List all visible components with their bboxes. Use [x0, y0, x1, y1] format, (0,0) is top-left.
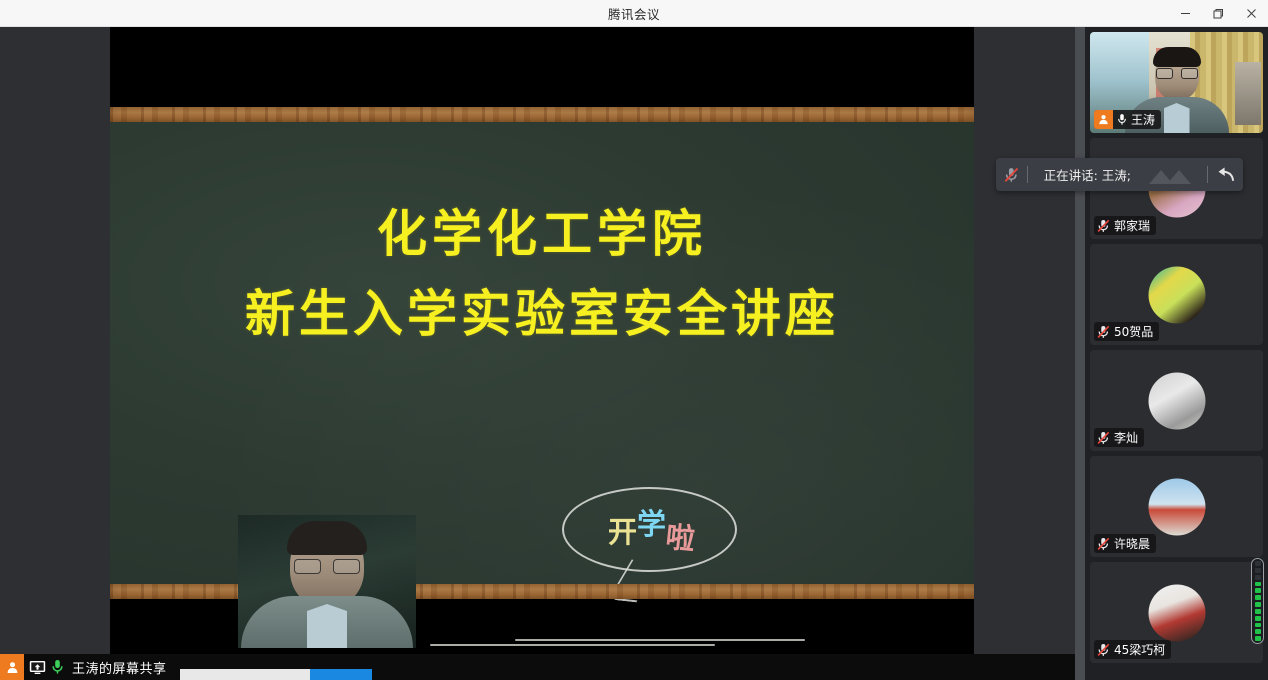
toast-divider	[1027, 166, 1028, 183]
participant-hair	[1153, 47, 1201, 67]
participant-nameplate: 45梁巧柯	[1094, 640, 1171, 659]
presenter-hair	[287, 521, 367, 555]
participant-tile[interactable]: 李灿	[1090, 350, 1263, 451]
participant-name: 许晓晨	[1114, 535, 1150, 552]
speech-bubble: 开学啦	[562, 487, 737, 572]
screen-share-icon	[29, 660, 46, 675]
presenter-video-overlay	[238, 515, 416, 648]
presenter-body	[241, 596, 413, 648]
host-person-icon	[1094, 110, 1113, 129]
avatar	[1148, 584, 1205, 641]
participant-nameplate: 许晓晨	[1094, 534, 1156, 553]
audio-level-meter[interactable]	[1251, 558, 1264, 644]
minimize-button[interactable]	[1169, 0, 1202, 27]
restore-button[interactable]	[1202, 0, 1235, 27]
presenter-glasses	[294, 559, 360, 574]
speaking-toast[interactable]: 正在讲话: 王涛;	[996, 158, 1243, 191]
window-titlebar: 腾讯会议	[0, 0, 1268, 27]
avatar	[1148, 266, 1205, 323]
window-title: 腾讯会议	[608, 4, 660, 23]
bubble-char-3: 啦	[664, 513, 697, 558]
meeting-body: 化学化工学院 新生入学实验室安全讲座 开学啦	[0, 27, 1268, 680]
speech-bubble-text: 开学啦	[564, 509, 739, 551]
microphone-muted-icon	[1097, 537, 1110, 551]
bubble-char-1: 开	[608, 515, 637, 549]
participant-nameplate: 李灿	[1094, 428, 1144, 447]
participant-nameplate: 郭家瑞	[1094, 216, 1156, 235]
microphone-muted-icon	[1004, 167, 1019, 183]
bubble-char-2: 学	[637, 501, 666, 543]
participant-tile[interactable]: 王涛	[1090, 32, 1263, 133]
microphone-muted-icon	[1097, 643, 1110, 657]
participant-tile[interactable]: 50贺品	[1090, 244, 1263, 345]
microphone-muted-icon	[1097, 219, 1110, 233]
microphone-icon	[51, 659, 64, 675]
participant-name: 45梁巧柯	[1114, 641, 1165, 658]
close-button[interactable]	[1235, 0, 1268, 27]
rail-divider	[1075, 27, 1085, 680]
microphone-muted-icon	[1097, 325, 1110, 339]
microphone-muted-icon	[1097, 431, 1110, 445]
participant-name: 李灿	[1114, 429, 1138, 446]
screen-share-banner-label: 王涛的屏幕共享	[72, 658, 167, 677]
participant-tile[interactable]: 许晓晨	[1090, 456, 1263, 557]
participant-glasses	[1156, 68, 1198, 79]
toast-divider	[1207, 166, 1208, 183]
window-controls	[1169, 0, 1268, 27]
chalk-line	[515, 639, 805, 641]
participant-nameplate: 王涛	[1094, 110, 1161, 129]
slide-title-line1: 化学化工学院	[110, 194, 974, 266]
back-arrow-icon[interactable]	[1216, 166, 1235, 183]
taskbar-active-strip	[310, 669, 372, 680]
speaking-toast-label: 正在讲话: 王涛;	[1044, 165, 1131, 184]
participant-tile[interactable]: 45梁巧柯	[1090, 562, 1263, 663]
tencent-meeting-window: 腾讯会议	[0, 0, 1268, 680]
participant-name: 50贺品	[1114, 323, 1153, 340]
chalk-line	[430, 644, 715, 646]
avatar	[1148, 478, 1205, 535]
chevron-up-icon[interactable]	[1143, 164, 1199, 186]
slide-title-line2: 新生入学实验室安全讲座	[110, 274, 974, 346]
host-person-icon	[0, 654, 24, 680]
participant-nameplate: 50贺品	[1094, 322, 1159, 341]
participant-name: 郭家瑞	[1114, 217, 1150, 234]
screen-share-banner: 王涛的屏幕共享	[0, 654, 1080, 680]
participant-rail[interactable]: 王涛 郭家瑞	[1085, 27, 1268, 680]
shared-screen-stage[interactable]: 化学化工学院 新生入学实验室安全讲座 开学啦	[110, 27, 974, 676]
participant-name: 王涛	[1131, 111, 1155, 128]
microphone-icon	[1117, 113, 1127, 126]
chalkboard-frame-top	[110, 107, 974, 122]
avatar	[1148, 372, 1205, 429]
